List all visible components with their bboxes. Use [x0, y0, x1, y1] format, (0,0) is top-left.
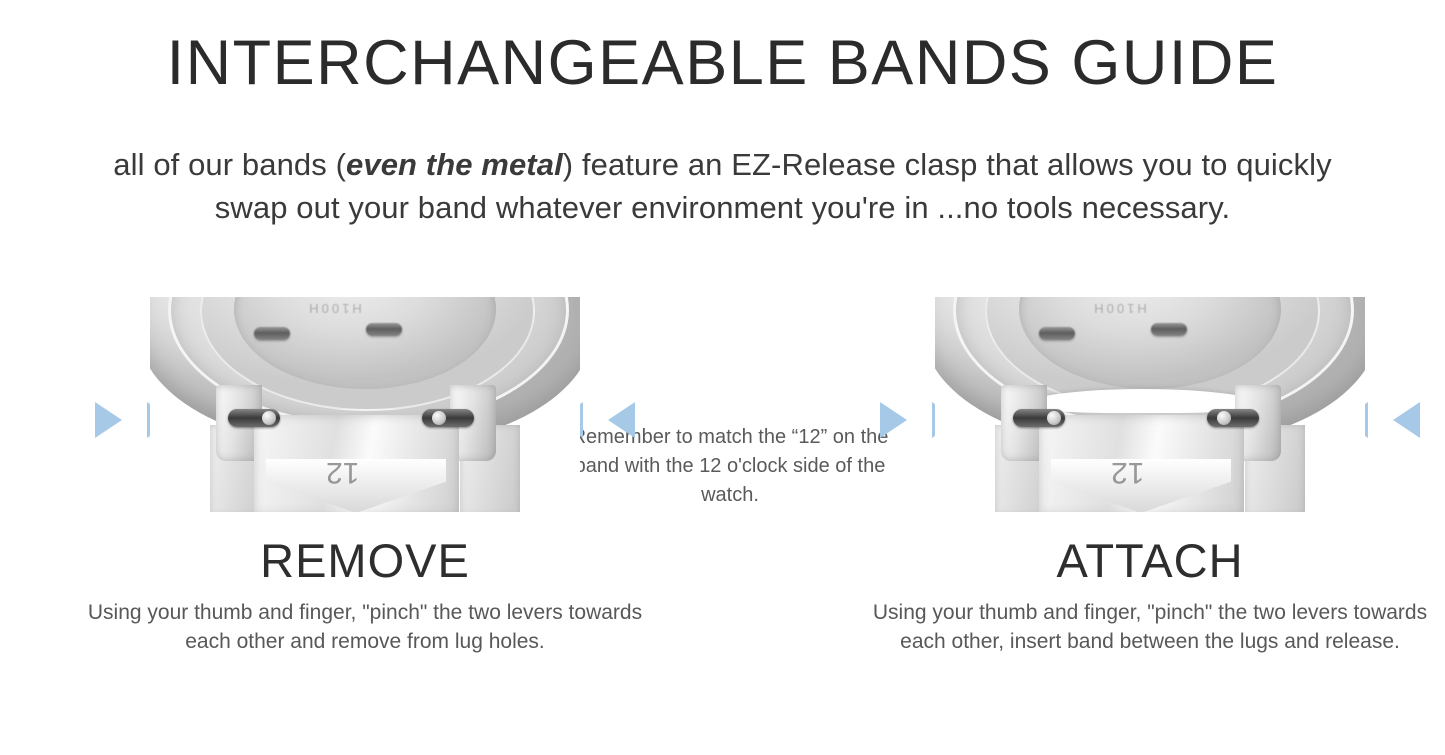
arrow-right-icon: [880, 402, 907, 438]
caseback-screw-icon: [1039, 327, 1075, 340]
quick-release-lever-right: [422, 409, 474, 427]
subtitle-part-one: all of our bands (: [113, 147, 346, 182]
figure-attach: on H100H 12: [870, 280, 1430, 512]
figure-remove: on H100H 12: [85, 280, 645, 512]
lever-cap-right: [1217, 411, 1231, 425]
panel-caption-attach: Using your thumb and finger, "pinch" the…: [850, 598, 1445, 656]
band-marking-12: 12: [1111, 455, 1144, 489]
band-marking-12: 12: [326, 455, 359, 489]
quick-release-lever-right: [1207, 409, 1259, 427]
page-title: INTERCHANGEABLE BANDS GUIDE: [0, 28, 1445, 99]
watch-photo-attach: on H100H 12: [935, 297, 1365, 512]
arrow-left-icon: [1393, 402, 1420, 438]
lever-cap-left: [1047, 411, 1061, 425]
panel-attach: on H100H 12: [870, 280, 1430, 720]
panel-caption-remove: Using your thumb and finger, "pinch" the…: [65, 598, 665, 656]
panels-row: on H100H 12: [0, 280, 1445, 720]
panel-heading-remove: REMOVE: [85, 535, 645, 587]
panel-heading-attach: ATTACH: [870, 535, 1430, 587]
caseback-engraving-small: H100H: [1019, 301, 1219, 316]
caseback-screw-icon: [366, 323, 402, 336]
watch-photo-remove: on H100H 12: [150, 297, 580, 512]
interchangeable-bands-guide-page: INTERCHANGEABLE BANDS GUIDE all of our b…: [0, 0, 1445, 755]
caseback-engraving-small: H100H: [234, 301, 434, 316]
subtitle-emphasis: even the metal: [346, 147, 563, 182]
panel-remove: on H100H 12: [85, 280, 645, 720]
caseback-screw-icon: [1151, 323, 1187, 336]
arrow-left-icon: [608, 402, 635, 438]
page-subtitle: all of our bands (even the metal) featur…: [88, 143, 1358, 229]
arrow-right-icon: [95, 402, 122, 438]
caseback-screw-icon: [254, 327, 290, 340]
lever-cap-left: [262, 411, 276, 425]
lever-cap-right: [432, 411, 446, 425]
